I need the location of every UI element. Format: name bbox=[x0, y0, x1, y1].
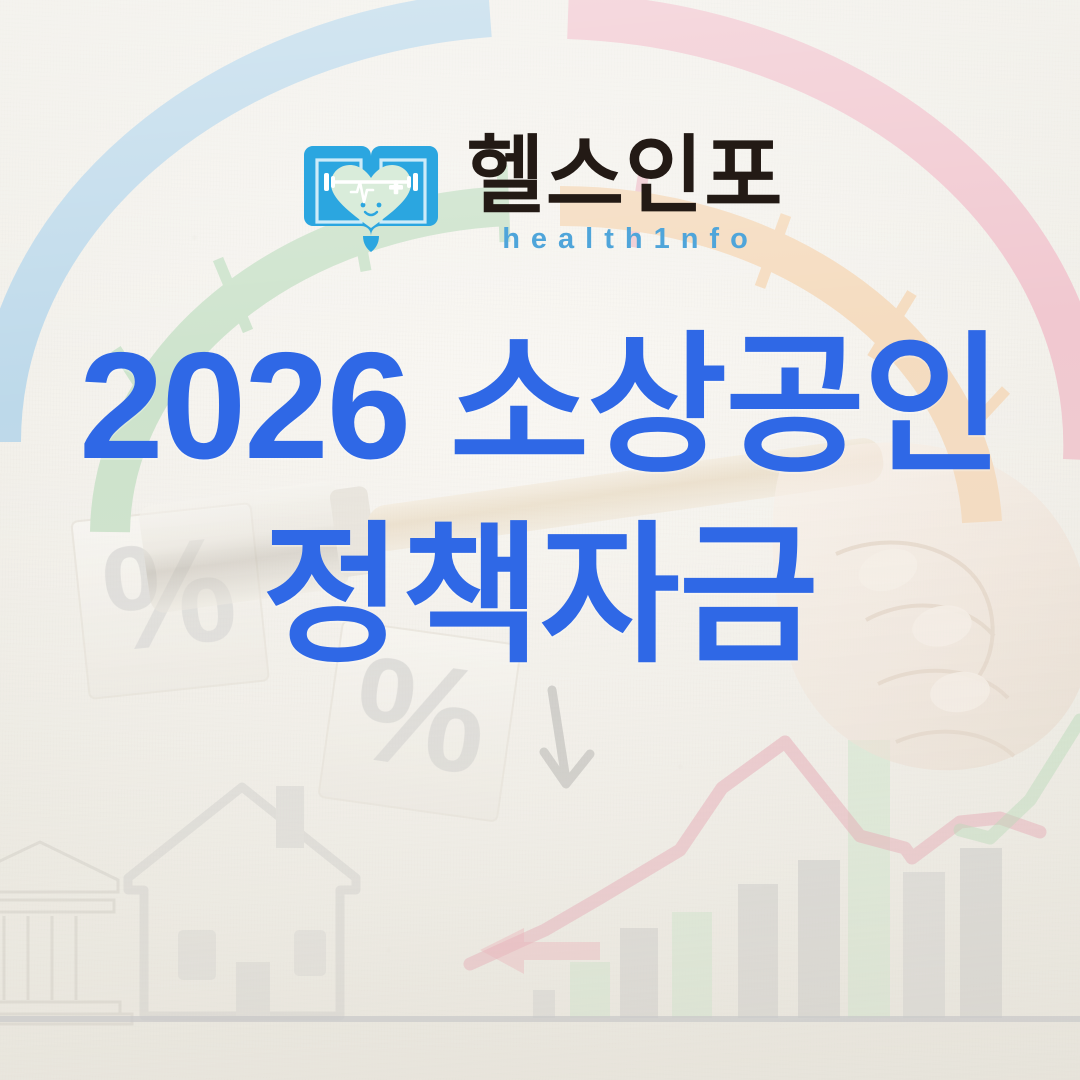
poster-canvas: % % bbox=[0, 0, 1080, 1080]
brand-logo-row: 헬스인포 health1nfo bbox=[0, 132, 1080, 260]
brand-wordmark: 헬스인포 health1nfo bbox=[467, 136, 784, 257]
poster-headline: 2026 소상공인 정책자금 bbox=[0, 330, 1080, 672]
headline-line-1: 2026 소상공인 bbox=[0, 330, 1080, 482]
brand-name-english: health1nfo bbox=[491, 223, 759, 256]
book-heart-barbell-logo-icon bbox=[297, 132, 445, 260]
brand-name-korean: 헬스인포 bbox=[467, 136, 784, 218]
ground-line bbox=[0, 1016, 1080, 1022]
headline-line-2: 정책자금 bbox=[0, 520, 1080, 672]
